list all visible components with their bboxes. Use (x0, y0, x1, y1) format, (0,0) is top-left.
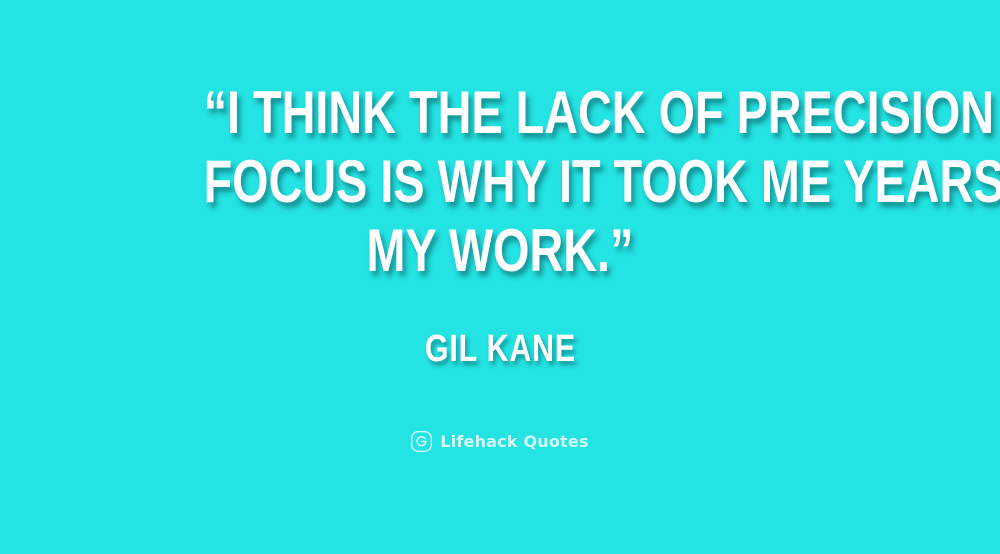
quote-line-3: my work.” (204, 216, 797, 285)
quote-card: “I think the lack of precision and deep … (0, 0, 1000, 554)
quote-line-1: “I think the lack of precision and deep (204, 78, 797, 147)
quote-text: “I think the lack of precision and deep … (204, 78, 797, 285)
author-name: Gil Kane (424, 329, 575, 369)
quote-line-2: focus is why it took me years to build u… (204, 147, 797, 216)
lifehack-circle-icon (411, 431, 432, 452)
brand-label: Lifehack Quotes (440, 433, 588, 451)
brand-footer: Lifehack Quotes (0, 431, 1000, 452)
